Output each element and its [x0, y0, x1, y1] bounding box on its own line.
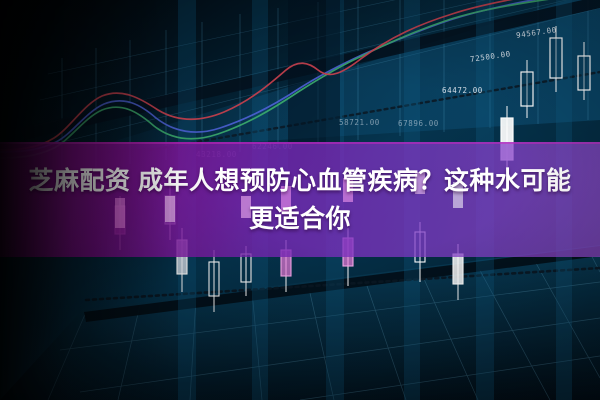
banner-root: 43218.00 62246.00 58721.00 67896.00 6447…: [0, 0, 600, 400]
band-overlay-candles: [0, 0, 600, 400]
